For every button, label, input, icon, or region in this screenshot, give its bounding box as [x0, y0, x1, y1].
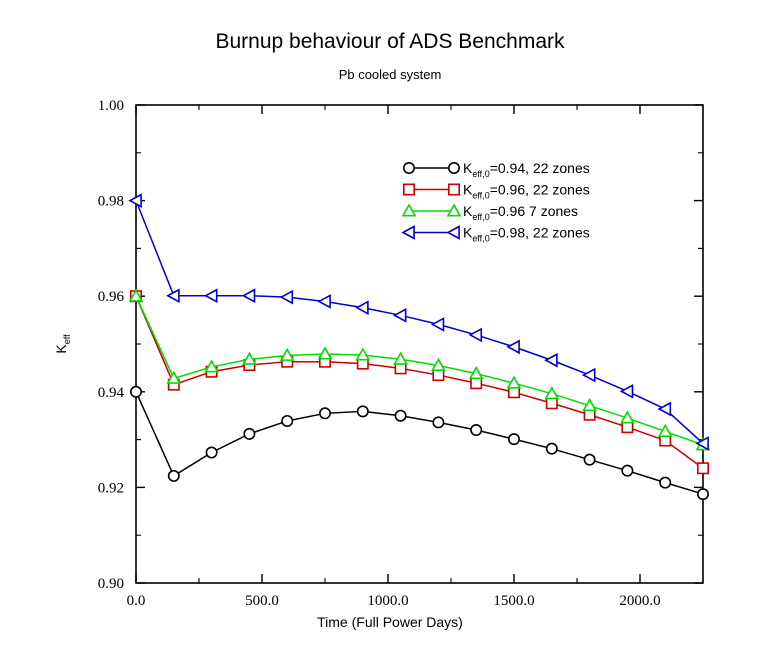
data-point-circle: [584, 454, 594, 464]
burnup-chart: Burnup behaviour of ADS Benchmark Pb coo…: [0, 0, 781, 650]
data-point-triangle-left: [357, 302, 368, 314]
data-point-square: [547, 398, 557, 408]
y-tick-label: 0.92: [98, 480, 124, 496]
data-point-triangle-left: [432, 318, 443, 330]
data-point-circle: [131, 387, 141, 397]
data-point-triangle-left: [403, 227, 414, 239]
chart-title: Burnup behaviour of ADS Benchmark: [215, 30, 565, 53]
y-tick-label: 0.90: [98, 576, 124, 592]
y-tick-label: 0.94: [98, 385, 125, 401]
plot-frame: [136, 105, 703, 583]
data-point-circle: [169, 471, 179, 481]
data-point-circle: [282, 416, 292, 426]
data-point-square: [433, 370, 443, 380]
legend-label-suffix: =0.96, 22 zones: [490, 182, 590, 198]
legend-label: Keff,0=0.96 7 zones: [463, 203, 578, 222]
data-point-circle: [509, 434, 519, 444]
legend-label-suffix: =0.94, 22 zones: [490, 160, 590, 176]
data-point-circle: [622, 465, 632, 475]
data-point-circle: [358, 406, 368, 416]
legend-label-suffix: =0.96 7 zones: [490, 203, 578, 219]
data-point-triangle-left: [281, 291, 292, 303]
legend-item-2: Keff,0=0.96 7 zones: [403, 203, 578, 222]
data-point-square: [404, 184, 414, 194]
legend-label: Keff,0=0.96, 22 zones: [463, 182, 590, 201]
data-point-circle: [547, 443, 557, 453]
data-point-triangle-left: [659, 403, 670, 415]
data-point-triangle-left: [206, 290, 217, 302]
data-point-triangle-left: [448, 227, 459, 239]
data-point-triangle-left: [243, 290, 254, 302]
data-point-circle: [404, 163, 414, 173]
data-point-circle: [395, 411, 405, 421]
chart-subtitle: Pb cooled system: [339, 67, 442, 82]
legend-item-1: Keff,0=0.96, 22 zones: [404, 182, 590, 201]
data-point-circle: [698, 489, 708, 499]
legend-label-subscript: eff,0: [472, 234, 489, 244]
figure-container: Burnup behaviour of ADS Benchmark Pb coo…: [0, 0, 781, 650]
x-tick-label: 1000.0: [367, 593, 408, 609]
data-point-triangle: [319, 348, 331, 359]
legend-item-3: Keff,0=0.98, 22 zones: [403, 225, 590, 244]
series-0: [131, 387, 708, 500]
data-point-square: [698, 463, 708, 473]
data-point-triangle-left: [546, 354, 557, 366]
data-point-triangle-left: [395, 309, 406, 321]
x-tick-label: 500.0: [245, 593, 279, 609]
legend-label-subscript: eff,0: [472, 169, 489, 179]
data-point-circle: [660, 477, 670, 487]
data-point-circle: [433, 417, 443, 427]
x-axis-label: Time (Full Power Days): [317, 614, 463, 630]
y-tick-label: 0.96: [98, 289, 125, 305]
legend-label-subscript: eff,0: [472, 191, 489, 201]
y-tick-label: 1.00: [98, 98, 124, 114]
data-point-circle: [471, 425, 481, 435]
data-point-circle: [244, 429, 254, 439]
y-axis-label-subscript: eff: [62, 334, 72, 344]
legend-label: Keff,0=0.98, 22 zones: [463, 225, 590, 244]
series-1: [131, 291, 708, 473]
data-point-square: [449, 184, 459, 194]
series-line: [136, 201, 703, 444]
data-point-triangle-left: [621, 385, 632, 397]
data-point-triangle-left: [319, 295, 330, 307]
data-point-triangle: [659, 425, 671, 436]
y-tick-label: 0.98: [98, 194, 124, 210]
legend-label: Keff,0=0.94, 22 zones: [463, 160, 590, 179]
y-axis-label-group: Keff: [53, 334, 72, 354]
x-tick-label: 1500.0: [493, 593, 534, 609]
data-point-circle: [320, 408, 330, 418]
x-tick-label: 0.0: [127, 593, 146, 609]
y-axis-label: Keff: [53, 334, 72, 354]
data-point-triangle-left: [508, 341, 519, 353]
series-line: [136, 392, 703, 494]
legend-item-0: Keff,0=0.94, 22 zones: [404, 160, 590, 179]
legend-label-subscript: eff,0: [472, 212, 489, 222]
legend-label-suffix: =0.98, 22 zones: [490, 225, 590, 241]
data-point-triangle-left: [470, 329, 481, 341]
series-line: [136, 296, 703, 468]
chart-legend: Keff,0=0.94, 22 zonesKeff,0=0.96, 22 zon…: [403, 160, 590, 244]
data-point-triangle-left: [168, 290, 179, 302]
data-point-circle: [206, 447, 216, 457]
data-point-triangle-left: [584, 369, 595, 381]
data-point-circle: [449, 163, 459, 173]
x-tick-label: 2000.0: [619, 593, 660, 609]
data-point-square: [471, 378, 481, 388]
data-series-layer: [130, 195, 709, 500]
